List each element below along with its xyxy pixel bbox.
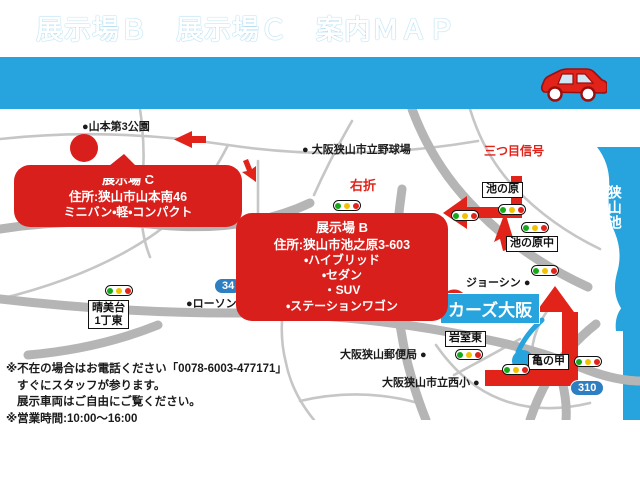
poi-joshin: ジョーシン ●	[466, 274, 530, 290]
traffic-signal-icon	[574, 356, 602, 367]
signal-label-kamenoko: 亀の甲	[528, 354, 569, 370]
annotation-turn-right: 右折	[350, 175, 376, 194]
annotation-third-signal: 三つ目信号	[484, 142, 544, 159]
footer-notes: ※不在の場合はお電話ください「0078-6003-477171」 すぐにスタッフ…	[6, 361, 306, 428]
signal-label-iwamuro-higashi: 岩室東	[445, 331, 486, 347]
traffic-signal-icon	[333, 200, 361, 211]
callout-b-title: 展示場 B	[246, 220, 438, 237]
signal-label-harumidai: 晴美台 1丁東	[88, 300, 129, 329]
traffic-signal-icon	[502, 364, 530, 375]
traffic-signal-icon	[521, 222, 549, 233]
note-phone: ※不在の場合はお電話ください「0078-6003-477171」	[6, 361, 306, 378]
callout-b-item: ・ハイブリッド	[246, 253, 438, 268]
poi-baseball-stadium: ● 大阪狭山市立野球場	[302, 141, 411, 157]
arrow-turn-right-a	[242, 159, 256, 182]
route-shield-310: 310	[570, 380, 604, 396]
callout-b-address: 住所:狭山市池之原3-603	[246, 237, 438, 253]
callout-b-item: ・セダン	[246, 268, 438, 283]
red-car-icon	[535, 62, 607, 106]
signal-label-harumidai-line1: 晴美台	[92, 302, 125, 315]
traffic-signal-icon	[455, 349, 483, 360]
shop-banner-cars-osaka: カーズ大阪	[440, 293, 540, 324]
showroom-c-marker	[60, 132, 190, 178]
callout-c-address: 住所:狭山市山本南46	[24, 189, 232, 205]
callout-c-types: ミニバン・軽・コンパクト	[24, 205, 232, 220]
road-lower-left	[28, 325, 158, 355]
traffic-signal-icon	[105, 285, 133, 296]
sayama-pond-label: 狭山池	[607, 185, 622, 230]
note-hours: ※営業時間:10:00～16:00	[6, 411, 306, 428]
callout-b-item: ・ステーションワゴン	[246, 299, 438, 314]
signal-label-ikenohara-naka: 池の原中	[506, 236, 558, 252]
traffic-signal-icon	[531, 265, 559, 276]
note-staff: すぐにスタッフが参ります。	[6, 378, 306, 395]
map-flyer: 展示場Ｂ 展示場Ｃ 案内ＭＡＰ	[0, 0, 640, 480]
water-inlet-shape	[616, 301, 640, 331]
signal-label-ikenohara: 池の原	[482, 182, 523, 198]
traffic-signal-icon	[498, 204, 526, 215]
poi-lawson: ●ローソン	[186, 295, 237, 311]
poi-nishi-elementary: 大阪狭山市立西小 ●	[382, 374, 480, 390]
traffic-signal-icon	[451, 210, 479, 221]
callout-showroom-b[interactable]: 展示場 B 住所:狭山市池之原3-603 ・ハイブリッド ・セダン ・SUV ・…	[236, 213, 448, 321]
poi-post-office: 大阪狭山郵便局 ●	[340, 346, 427, 362]
page-title: 展示場Ｂ 展示場Ｃ 案内ＭＡＰ	[36, 8, 456, 47]
callout-b-item: ・SUV	[246, 283, 438, 298]
note-free-viewing: 展示車両はご自由にご覧ください。	[6, 394, 306, 411]
signal-label-harumidai-line2: 1丁東	[92, 315, 125, 328]
